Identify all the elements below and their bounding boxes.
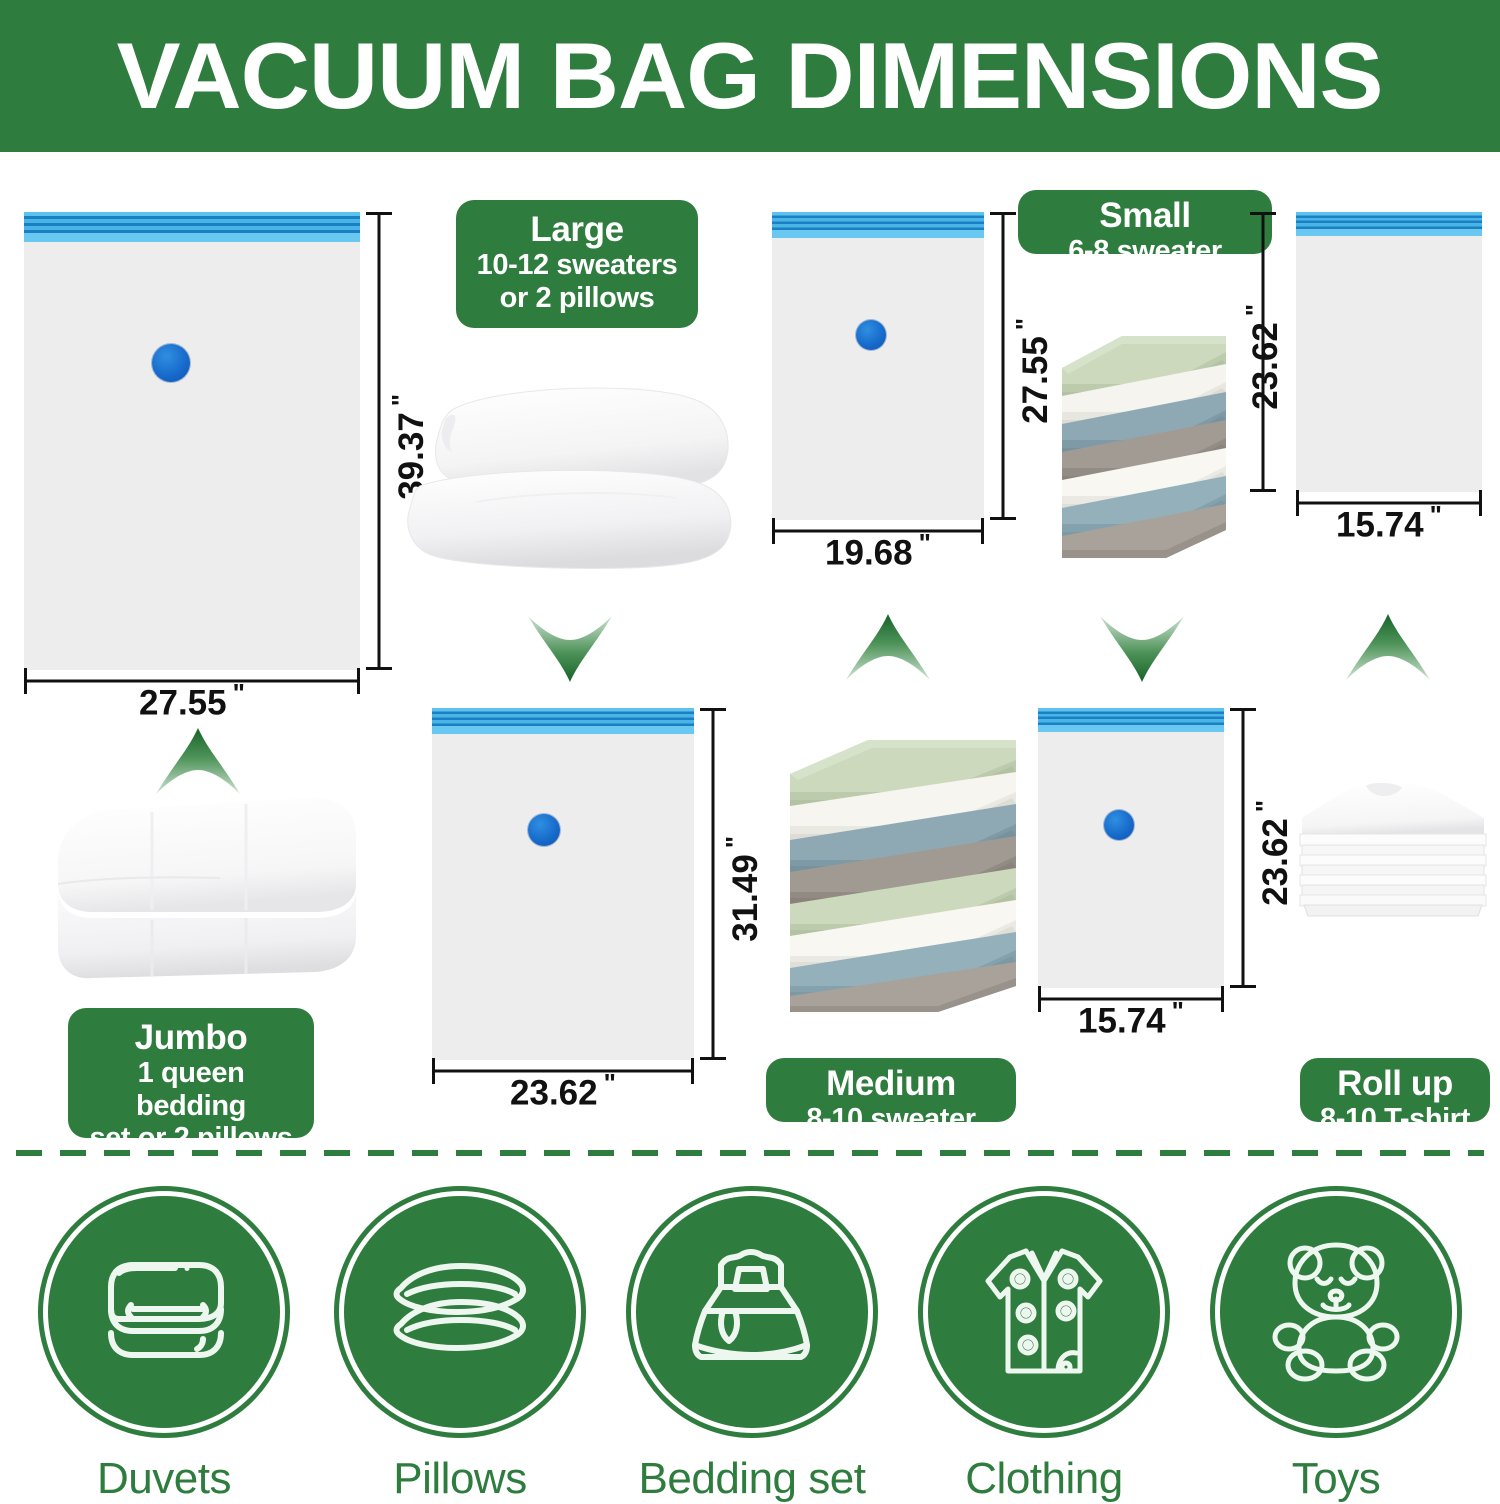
duvet-illustration [40, 792, 378, 1004]
use-case-duvets[interactable]: Duvets [14, 1196, 314, 1504]
medium-bag-width-label: 23.62" [422, 1068, 704, 1114]
page-title: VACUUM BAG DIMENSIONS [117, 29, 1383, 123]
bag-zipper [1038, 708, 1224, 732]
badge-jumbo-title: Jumbo [86, 1018, 296, 1057]
medium-bag [432, 708, 694, 1060]
bag-valve-icon [528, 814, 560, 846]
bag-valve-icon [152, 344, 190, 382]
shirt-icon [928, 1196, 1160, 1428]
small-bag-height-label: 23.62" [1240, 272, 1286, 442]
use-case-clothing[interactable]: Clothing [894, 1196, 1194, 1504]
use-case-label: Pillows [310, 1454, 610, 1504]
badge-jumbo: Jumbo 1 queen bedding set or 2 pillows [68, 1008, 314, 1138]
use-case-label: Clothing [894, 1454, 1194, 1504]
tshirt-stack-illustration [1292, 782, 1492, 934]
use-case-label: Bedding set [602, 1454, 902, 1504]
rollup-bag-height-label: 23.62" [1250, 768, 1296, 938]
badge-large-line2: or 2 pillows [474, 282, 680, 314]
bag-zipper [24, 212, 360, 242]
use-case-pillows[interactable]: Pillows [310, 1196, 610, 1504]
use-cases-row: Duvets Pillows [0, 1196, 1500, 1486]
jumbo-bag [24, 212, 360, 670]
use-case-label: Duvets [14, 1454, 314, 1504]
bag-valve-icon [856, 320, 886, 350]
arrow-small-down [1092, 612, 1192, 684]
badge-large-line1: 10-12 sweaters [474, 249, 680, 281]
badge-medium-line1: 8-10 sweater [784, 1103, 998, 1135]
use-case-label: Toys [1186, 1454, 1486, 1504]
large-bag-width-label: 19.68" [762, 528, 994, 574]
small-bag-width-label: 15.74" [1286, 500, 1492, 546]
badge-large: Large 10-12 sweaters or 2 pillows [456, 200, 698, 328]
rollup-bag-width-label: 15.74" [1028, 996, 1234, 1042]
badge-small: Small 6-8 sweater [1018, 190, 1272, 254]
section-divider [16, 1150, 1484, 1156]
header-banner: VACUUM BAG DIMENSIONS [0, 0, 1500, 152]
badge-medium: Medium 8-10 sweater [766, 1058, 1016, 1122]
badge-jumbo-line1: 1 queen bedding [86, 1057, 296, 1122]
badge-rollup: Roll up 8-10 T-shirt [1300, 1058, 1490, 1122]
arrow-rollup-up [1338, 612, 1438, 684]
arrow-jumbo-up [148, 726, 248, 798]
badge-rollup-title: Roll up [1318, 1064, 1472, 1103]
badge-medium-title: Medium [784, 1064, 998, 1103]
linen-stack-medium [772, 734, 1034, 1014]
use-case-toys[interactable]: Toys [1186, 1196, 1486, 1504]
bag-valve-icon [1104, 810, 1134, 840]
arrow-large-down [520, 612, 620, 684]
badge-large-title: Large [474, 210, 680, 249]
bag-zipper [1296, 212, 1482, 236]
medium-bag-height-label: 31.49" [720, 804, 766, 974]
bag-zipper [772, 212, 984, 238]
large-bag [772, 212, 984, 520]
arrow-medium-up [838, 612, 938, 684]
badge-small-title: Small [1036, 196, 1254, 235]
use-case-bedding-set[interactable]: Bedding set [602, 1196, 902, 1504]
badge-rollup-line1: 8-10 T-shirt [1318, 1103, 1472, 1135]
jumbo-bag-width-label: 27.55" [24, 678, 360, 724]
duvet-icon [48, 1196, 280, 1428]
rollup-bag [1038, 708, 1224, 988]
bag-zipper [432, 708, 694, 734]
badge-small-line1: 6-8 sweater [1036, 235, 1254, 267]
bed-icon [636, 1196, 868, 1428]
small-bag [1296, 212, 1482, 492]
teddy-bear-icon [1220, 1196, 1452, 1428]
linen-stack-small [1048, 330, 1238, 560]
pillows-illustration [396, 378, 756, 578]
pillows-icon [344, 1196, 576, 1428]
